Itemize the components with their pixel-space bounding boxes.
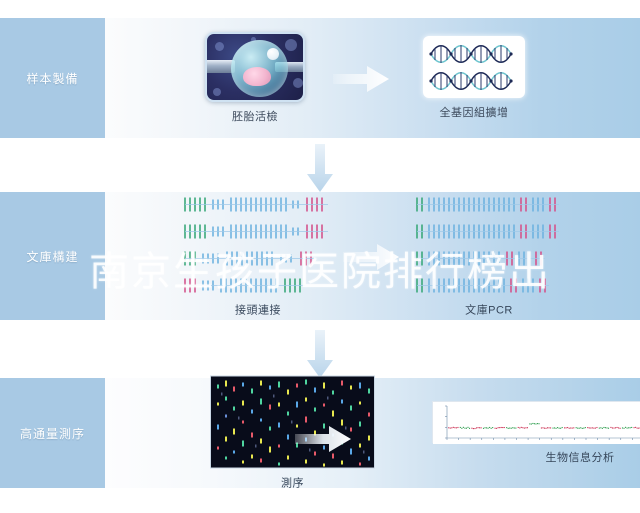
cnv-plot-icon [432,401,640,443]
dna-helix-strand-top [429,42,519,66]
arrow-right-icon-row3 [295,426,351,452]
stage-label-text: 文庫構建 [26,248,78,265]
stage-body-sample-prep: 胚胎活檢 [105,18,640,138]
stage-label-text: 高通量測序 [20,425,85,442]
dna-fragment-3 [183,249,333,269]
arrow-right-icon-row2 [343,244,399,270]
library-pcr-icon [415,195,563,296]
step-caption: 全基因組擴增 [440,104,509,120]
step-adapter-ligation[interactable]: 接頭連接 [183,195,333,318]
pcr-product-2 [415,222,563,242]
step-caption: 測序 [281,475,304,491]
pcr-product-3 [415,249,563,269]
arrow-right-icon-row1 [333,66,389,92]
stage-body-sequencing: 測序 [105,378,640,488]
dna-helix-strand-bottom [429,69,519,93]
cnv-scatter-plot [433,402,640,444]
arrow-down-icon-1 [307,144,333,192]
dna-fragment-2 [183,222,333,242]
dna-helix-icon [423,36,525,98]
stage-label-sequencing: 高通量測序 [0,378,105,488]
stage-row-sequencing: 高通量測序 [0,378,640,488]
step-caption: 胚胎活檢 [232,108,278,124]
adapter-ligation-icon [183,195,333,296]
stage-label-sample-prep: 样本製備 [0,18,105,138]
inner-cell-mass-shape [243,67,271,86]
arrow-down-icon-2 [307,330,333,378]
stage-row-library-construction: 文庫構建 [0,192,640,320]
stage-label-text: 样本製備 [26,70,78,87]
step-whole-genome-amplification[interactable]: 全基因組擴增 [423,36,525,120]
step-embryo-biopsy[interactable]: 胚胎活檢 [205,32,305,124]
figure-canvas: 样本製備 胚胎活檢 [0,0,640,513]
dna-fragment-4 [183,276,333,296]
stage-body-library-construction: 接頭連接 [105,192,640,320]
step-caption: 生物信息分析 [546,449,615,465]
step-bioinformatics-analysis[interactable]: 生物信息分析 [432,401,640,465]
step-caption: 接頭連接 [235,302,281,318]
polar-body-shape [267,48,279,60]
stage-row-sample-prep: 样本製備 胚胎活檢 [0,18,640,138]
embryo-biopsy-icon [205,32,305,102]
pcr-product-1 [415,195,563,215]
pcr-product-4 [415,276,563,296]
sequencing-heatmap-icon [210,376,375,469]
step-caption: 文庫PCR [465,302,513,318]
step-library-pcr[interactable]: 文庫PCR [415,195,563,318]
stage-label-library-construction: 文庫構建 [0,192,105,320]
dna-fragment-1 [183,195,333,215]
flowcell-cluster-image [211,377,375,469]
